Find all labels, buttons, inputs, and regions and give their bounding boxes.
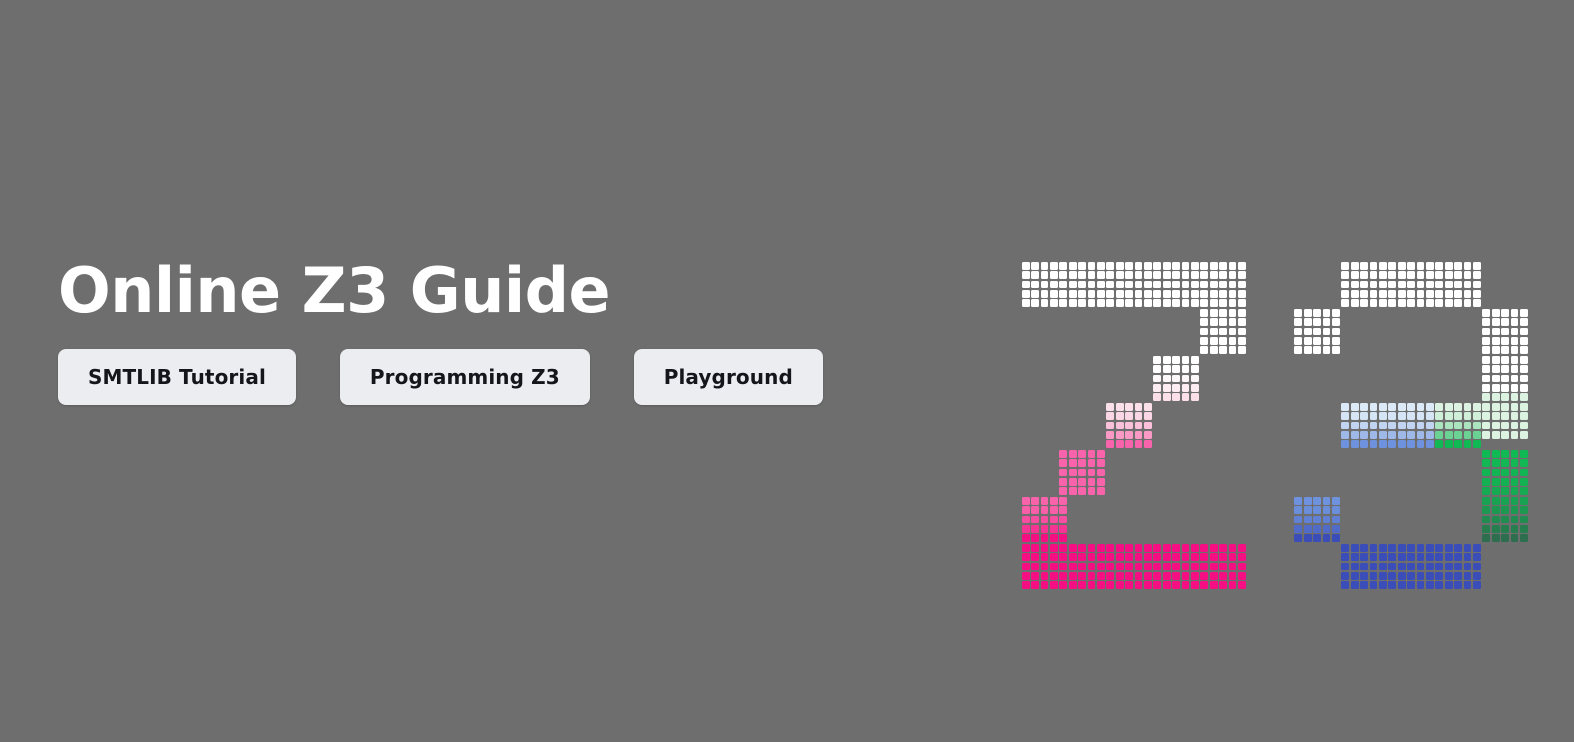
- logo-tile: [1069, 563, 1077, 571]
- logo-tile: [1417, 262, 1425, 270]
- logo-tile: [1388, 581, 1396, 589]
- logo-tile: [1022, 544, 1030, 552]
- logo-tile: [1492, 403, 1500, 411]
- logo-tile: [1388, 572, 1396, 580]
- logo-tile: [1078, 290, 1086, 298]
- logo-tile: [1097, 469, 1105, 477]
- logo-tile: [1464, 271, 1472, 279]
- logo-tile: [1351, 412, 1359, 420]
- logo-tile: [1417, 572, 1425, 580]
- logo-tile: [1294, 525, 1302, 533]
- logo-tile: [1360, 581, 1368, 589]
- logo-tile: [1482, 459, 1490, 467]
- playground-button[interactable]: Playground: [634, 349, 823, 405]
- logo-tile: [1182, 290, 1190, 298]
- logo-tile: [1511, 328, 1519, 336]
- logo-tile: [1172, 384, 1180, 392]
- logo-tile: [1163, 299, 1171, 307]
- logo-tile: [1370, 290, 1378, 298]
- logo-tile: [1210, 328, 1218, 336]
- logo-tile: [1370, 412, 1378, 420]
- logo-tile: [1182, 384, 1190, 392]
- hero-button-group: SMTLIB TutorialProgramming Z3Playground: [58, 349, 978, 405]
- logo-tile: [1153, 581, 1161, 589]
- logo-tile: [1238, 281, 1246, 289]
- logo-tile: [1050, 572, 1058, 580]
- logo-tile: [1520, 412, 1528, 420]
- logo-tile: [1492, 328, 1500, 336]
- logo-tile: [1041, 544, 1049, 552]
- logo-tile: [1135, 412, 1143, 420]
- logo-tile: [1464, 572, 1472, 580]
- logo-tile: [1116, 412, 1124, 420]
- logo-tile: [1219, 271, 1227, 279]
- logo-tile: [1078, 450, 1086, 458]
- logo-tile: [1520, 450, 1528, 458]
- logo-tile: [1492, 393, 1500, 401]
- logo-tile: [1332, 497, 1340, 505]
- logo-tile: [1520, 525, 1528, 533]
- logo-tile: [1492, 318, 1500, 326]
- logo-tile: [1520, 516, 1528, 524]
- logo-tile: [1370, 403, 1378, 411]
- logo-tile: [1473, 544, 1481, 552]
- logo-tile: [1106, 440, 1114, 448]
- logo-tile: [1059, 553, 1067, 561]
- logo-tile: [1022, 516, 1030, 524]
- logo-tile: [1163, 544, 1171, 552]
- logo-tile: [1163, 262, 1171, 270]
- smtlib-tutorial-button[interactable]: SMTLIB Tutorial: [58, 349, 296, 405]
- logo-tile: [1229, 318, 1237, 326]
- logo-tile: [1323, 506, 1331, 514]
- logo-tile: [1022, 506, 1030, 514]
- logo-tile: [1182, 365, 1190, 373]
- logo-tile: [1163, 553, 1171, 561]
- logo-tile: [1200, 271, 1208, 279]
- logo-tile: [1031, 290, 1039, 298]
- logo-tile: [1294, 506, 1302, 514]
- logo-tile: [1520, 337, 1528, 345]
- logo-tile: [1088, 459, 1096, 467]
- logo-tile: [1116, 581, 1124, 589]
- logo-73-mosaic: [1021, 261, 1521, 581]
- logo-tile: [1407, 440, 1415, 448]
- logo-tile: [1445, 553, 1453, 561]
- logo-tile: [1182, 271, 1190, 279]
- logo-tile: [1407, 572, 1415, 580]
- logo-tile: [1031, 506, 1039, 514]
- logo-tile: [1219, 262, 1227, 270]
- logo-tile: [1341, 281, 1349, 289]
- logo-tile: [1304, 346, 1312, 354]
- logo-tile: [1492, 384, 1500, 392]
- logo-tile: [1125, 431, 1133, 439]
- logo-tile: [1501, 487, 1509, 495]
- logo-tile: [1219, 581, 1227, 589]
- logo-tile: [1398, 572, 1406, 580]
- logo-tile: [1492, 356, 1500, 364]
- logo-tile: [1088, 581, 1096, 589]
- logo-tile: [1163, 365, 1171, 373]
- three-middle-left: [1341, 402, 1435, 449]
- logo-tile: [1407, 431, 1415, 439]
- logo-tile: [1219, 346, 1227, 354]
- logo-tile: [1511, 478, 1519, 486]
- logo-tile: [1059, 581, 1067, 589]
- logo-tile: [1059, 534, 1067, 542]
- logo-tile: [1313, 516, 1321, 524]
- logo-tile: [1482, 318, 1490, 326]
- logo-tile: [1520, 393, 1528, 401]
- logo-tile: [1210, 290, 1218, 298]
- logo-tile: [1360, 412, 1368, 420]
- logo-tile: [1050, 534, 1058, 542]
- logo-tile: [1482, 525, 1490, 533]
- logo-tile: [1332, 309, 1340, 317]
- logo-tile: [1360, 544, 1368, 552]
- logo-tile: [1417, 422, 1425, 430]
- logo-tile: [1501, 431, 1509, 439]
- logo-tile: [1097, 459, 1105, 467]
- logo-tile: [1191, 290, 1199, 298]
- logo-tile: [1407, 422, 1415, 430]
- logo-tile: [1313, 328, 1321, 336]
- seven-bottom-bar: [1021, 543, 1247, 590]
- logo-tile: [1501, 403, 1509, 411]
- logo-tile: [1464, 422, 1472, 430]
- three-lower-right: [1482, 449, 1529, 543]
- logo-tile: [1210, 309, 1218, 317]
- logo-tile: [1229, 581, 1237, 589]
- logo-tile: [1482, 346, 1490, 354]
- logo-tile: [1106, 262, 1114, 270]
- logo-tile: [1238, 290, 1246, 298]
- logo-tile: [1482, 487, 1490, 495]
- logo-tile: [1388, 544, 1396, 552]
- logo-tile: [1050, 544, 1058, 552]
- logo-tile: [1426, 440, 1434, 448]
- logo-tile: [1511, 450, 1519, 458]
- logo-tile: [1360, 422, 1368, 430]
- logo-tile: [1153, 356, 1161, 364]
- logo-tile: [1022, 563, 1030, 571]
- logo-tile: [1210, 553, 1218, 561]
- three-middle-right: [1435, 402, 1482, 449]
- logo-tile: [1135, 563, 1143, 571]
- logo-tile: [1388, 299, 1396, 307]
- logo-tile: [1454, 412, 1462, 420]
- logo-tile: [1116, 440, 1124, 448]
- logo-tile: [1219, 290, 1227, 298]
- logo-tile: [1200, 328, 1208, 336]
- logo-tile: [1069, 262, 1077, 270]
- logo-tile: [1229, 553, 1237, 561]
- logo-tile: [1370, 299, 1378, 307]
- logo-tile: [1097, 563, 1105, 571]
- logo-tile: [1041, 497, 1049, 505]
- programming-z3-button[interactable]: Programming Z3: [340, 349, 590, 405]
- logo-tile: [1304, 497, 1312, 505]
- logo-tile: [1351, 281, 1359, 289]
- logo-tile: [1191, 281, 1199, 289]
- logo-tile: [1435, 262, 1443, 270]
- logo-tile: [1210, 581, 1218, 589]
- logo-tile: [1050, 299, 1058, 307]
- logo-tile: [1172, 262, 1180, 270]
- logo-tile: [1351, 553, 1359, 561]
- logo-tile: [1041, 553, 1049, 561]
- logo-tile: [1163, 572, 1171, 580]
- logo-tile: [1031, 525, 1039, 533]
- logo-tile: [1219, 328, 1227, 336]
- logo-tile: [1511, 506, 1519, 514]
- logo-tile: [1407, 403, 1415, 411]
- logo-tile: [1294, 497, 1302, 505]
- logo-tile: [1069, 487, 1077, 495]
- logo-tile: [1501, 384, 1509, 392]
- logo-tile: [1078, 459, 1086, 467]
- logo-tile: [1116, 403, 1124, 411]
- logo-tile: [1097, 271, 1105, 279]
- logo-tile: [1501, 459, 1509, 467]
- logo-tile: [1153, 290, 1161, 298]
- logo-tile: [1041, 506, 1049, 514]
- logo-tile: [1511, 469, 1519, 477]
- logo-tile: [1435, 299, 1443, 307]
- logo-tile: [1426, 290, 1434, 298]
- logo-tile: [1435, 581, 1443, 589]
- logo-tile: [1511, 346, 1519, 354]
- logo-tile: [1464, 553, 1472, 561]
- logo-tile: [1482, 356, 1490, 364]
- logo-tile: [1238, 318, 1246, 326]
- seven-step-2: [1106, 402, 1153, 449]
- logo-tile: [1153, 384, 1161, 392]
- logo-tile: [1050, 290, 1058, 298]
- logo-tile: [1097, 553, 1105, 561]
- logo-tile: [1426, 563, 1434, 571]
- logo-tile: [1520, 328, 1528, 336]
- logo-tile: [1454, 544, 1462, 552]
- logo-tile: [1097, 450, 1105, 458]
- logo-tile: [1191, 262, 1199, 270]
- logo-tile: [1398, 544, 1406, 552]
- logo-tile: [1445, 281, 1453, 289]
- logo-tile: [1435, 544, 1443, 552]
- logo-tile: [1454, 403, 1462, 411]
- logo-tile: [1031, 281, 1039, 289]
- logo-tile: [1520, 356, 1528, 364]
- logo-tile: [1454, 281, 1462, 289]
- logo-tile: [1200, 290, 1208, 298]
- logo-tile: [1511, 525, 1519, 533]
- logo-tile: [1059, 478, 1067, 486]
- page-title: Online Z3 Guide: [58, 258, 978, 325]
- logo-tile: [1482, 375, 1490, 383]
- logo-tile: [1341, 440, 1349, 448]
- logo-tile: [1379, 299, 1387, 307]
- logo-tile: [1219, 299, 1227, 307]
- logo-tile: [1031, 534, 1039, 542]
- logo-tile: [1022, 299, 1030, 307]
- three-top-bar: [1341, 261, 1482, 308]
- logo-tile: [1106, 299, 1114, 307]
- logo-tile: [1520, 375, 1528, 383]
- logo-tile: [1445, 271, 1453, 279]
- three-top-left-stub: [1294, 308, 1341, 355]
- logo-tile: [1106, 422, 1114, 430]
- logo-tile: [1370, 262, 1378, 270]
- logo-tile: [1163, 375, 1171, 383]
- logo-tile: [1172, 572, 1180, 580]
- logo-tile: [1520, 478, 1528, 486]
- logo-tile: [1417, 290, 1425, 298]
- logo-tile: [1379, 290, 1387, 298]
- logo-tile: [1473, 290, 1481, 298]
- logo-tile: [1398, 431, 1406, 439]
- logo-tile: [1144, 553, 1152, 561]
- logo-tile: [1304, 318, 1312, 326]
- logo-tile: [1417, 581, 1425, 589]
- logo-tile: [1341, 262, 1349, 270]
- logo-tile: [1022, 572, 1030, 580]
- logo-tile: [1031, 544, 1039, 552]
- logo-tile: [1219, 544, 1227, 552]
- logo-tile: [1069, 459, 1077, 467]
- logo-tile: [1426, 403, 1434, 411]
- logo-tile: [1426, 431, 1434, 439]
- logo-tile: [1379, 281, 1387, 289]
- logo-tile: [1182, 281, 1190, 289]
- logo-tile: [1097, 262, 1105, 270]
- logo-tile: [1341, 422, 1349, 430]
- logo-tile: [1501, 469, 1509, 477]
- logo-tile: [1088, 281, 1096, 289]
- logo-tile: [1520, 318, 1528, 326]
- logo-tile: [1332, 346, 1340, 354]
- logo-tile: [1097, 478, 1105, 486]
- logo-tile: [1144, 440, 1152, 448]
- logo-tile: [1482, 431, 1490, 439]
- logo-tile: [1078, 563, 1086, 571]
- logo-tile: [1379, 563, 1387, 571]
- logo-tile: [1313, 525, 1321, 533]
- logo-tile: [1332, 318, 1340, 326]
- logo-tile: [1388, 403, 1396, 411]
- logo-tile: [1417, 281, 1425, 289]
- logo-tile: [1078, 553, 1086, 561]
- logo-tile: [1097, 581, 1105, 589]
- logo-tile: [1182, 356, 1190, 364]
- logo-tile: [1473, 431, 1481, 439]
- logo-tile: [1323, 516, 1331, 524]
- logo-tile: [1097, 299, 1105, 307]
- logo-tile: [1492, 337, 1500, 345]
- logo-tile: [1473, 403, 1481, 411]
- logo-tile: [1520, 487, 1528, 495]
- logo-tile: [1520, 384, 1528, 392]
- logo-tile: [1464, 440, 1472, 448]
- logo-tile: [1172, 365, 1180, 373]
- logo-tile: [1182, 581, 1190, 589]
- logo-tile: [1182, 563, 1190, 571]
- logo-tile: [1454, 563, 1462, 571]
- logo-tile: [1200, 581, 1208, 589]
- logo-tile: [1379, 422, 1387, 430]
- logo-tile: [1210, 271, 1218, 279]
- logo-tile: [1370, 563, 1378, 571]
- logo-tile: [1153, 393, 1161, 401]
- logo-tile: [1050, 581, 1058, 589]
- logo-tile: [1417, 431, 1425, 439]
- logo-tile: [1511, 318, 1519, 326]
- logo-tile: [1388, 440, 1396, 448]
- logo-tile: [1238, 328, 1246, 336]
- logo-tile: [1407, 563, 1415, 571]
- logo-tile: [1501, 318, 1509, 326]
- logo-tile: [1294, 346, 1302, 354]
- logo-tile: [1200, 572, 1208, 580]
- logo-tile: [1360, 553, 1368, 561]
- logo-tile: [1360, 271, 1368, 279]
- logo-tile: [1520, 534, 1528, 542]
- logo-tile: [1116, 299, 1124, 307]
- logo-tile: [1078, 487, 1086, 495]
- logo-tile: [1313, 318, 1321, 326]
- logo-tile: [1379, 412, 1387, 420]
- logo-tile: [1360, 563, 1368, 571]
- logo-tile: [1078, 262, 1086, 270]
- logo-tile: [1426, 544, 1434, 552]
- seven-step-1: [1153, 355, 1200, 402]
- logo-tile: [1125, 544, 1133, 552]
- logo-tile: [1050, 516, 1058, 524]
- logo-tile: [1520, 469, 1528, 477]
- logo-tile: [1454, 271, 1462, 279]
- logo-tile: [1153, 262, 1161, 270]
- logo-tile: [1426, 572, 1434, 580]
- logo-tile: [1191, 553, 1199, 561]
- logo-tile: [1323, 318, 1331, 326]
- logo-tile: [1341, 290, 1349, 298]
- logo-tile: [1191, 365, 1199, 373]
- logo-tile: [1200, 563, 1208, 571]
- logo-tile: [1069, 290, 1077, 298]
- logo-tile: [1492, 309, 1500, 317]
- logo-tile: [1435, 271, 1443, 279]
- logo-tile: [1200, 281, 1208, 289]
- logo-tile: [1088, 544, 1096, 552]
- logo-tile: [1360, 299, 1368, 307]
- logo-tile: [1511, 516, 1519, 524]
- logo-tile: [1172, 356, 1180, 364]
- logo-tile: [1238, 544, 1246, 552]
- logo-tile: [1360, 281, 1368, 289]
- logo-tile: [1313, 337, 1321, 345]
- logo-tile: [1511, 403, 1519, 411]
- logo-tile: [1031, 516, 1039, 524]
- logo-tile: [1210, 572, 1218, 580]
- logo-tile: [1332, 525, 1340, 533]
- logo-tile: [1088, 290, 1096, 298]
- logo-tile: [1153, 544, 1161, 552]
- logo-tile: [1435, 412, 1443, 420]
- logo-tile: [1473, 299, 1481, 307]
- logo-tile: [1351, 290, 1359, 298]
- logo-tile: [1398, 440, 1406, 448]
- logo-tile: [1473, 572, 1481, 580]
